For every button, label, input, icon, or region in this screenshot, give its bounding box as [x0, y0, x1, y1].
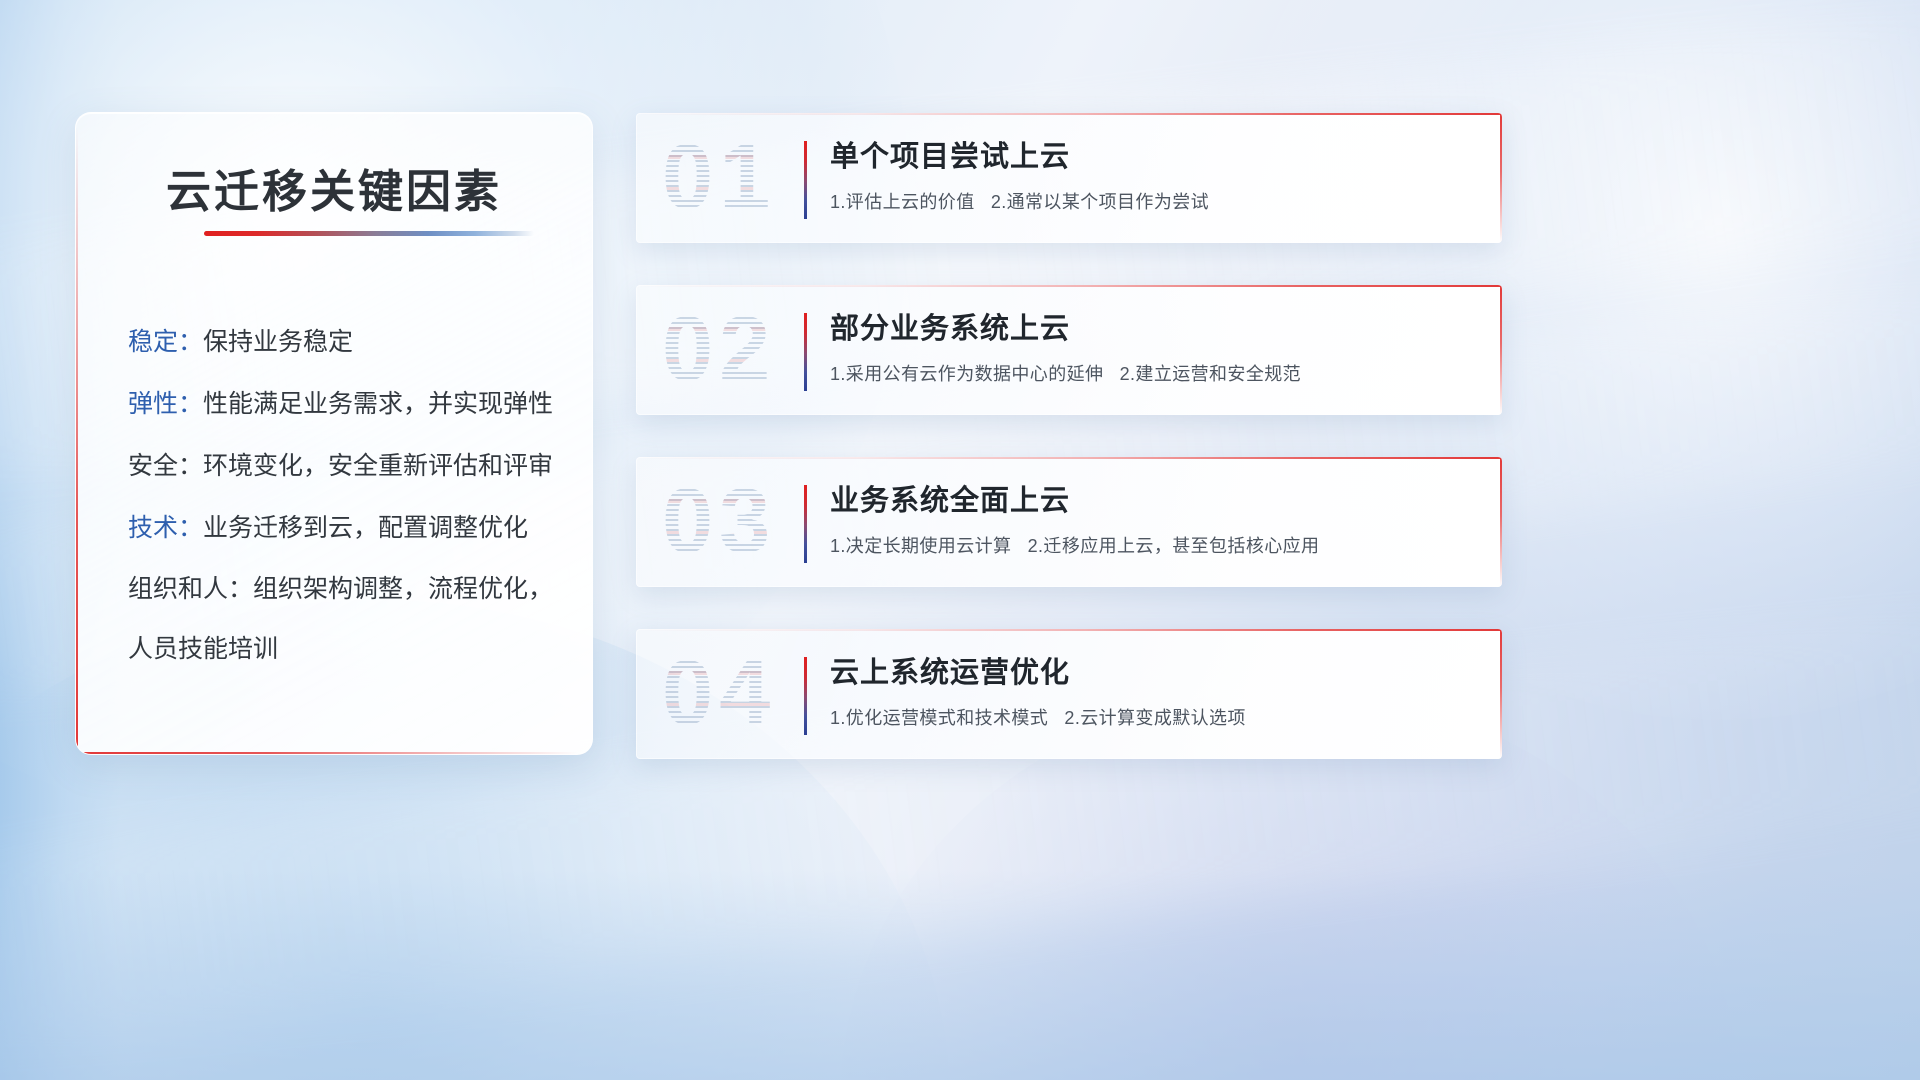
card-top-accent — [636, 285, 1502, 287]
card-title: 部分业务系统上云 — [830, 307, 1476, 351]
card-title: 业务系统全面上云 — [830, 479, 1476, 523]
list-item-value: 性能满足业务需求，并实现弹性 — [203, 390, 553, 418]
list-item-key: 安全： — [128, 452, 203, 480]
list-item-value: 保持业务稳定 — [203, 328, 353, 356]
card-top-accent — [636, 629, 1502, 631]
list-item-value: 环境变化，安全重新评估和评审 — [203, 452, 553, 480]
migration-stage-cards: 01 01 单个项目尝试上云 1.评估上云的价值 2.通常以某个项目作为尝试 0… — [636, 113, 1502, 801]
stage-card[interactable]: 04 04 云上系统运营优化 1.优化运营模式和技术模式 2.云计算变成默认选项 — [636, 629, 1502, 759]
card-number-ghost-tint: 04 — [662, 641, 852, 745]
card-right-accent — [1500, 457, 1502, 587]
stage-card[interactable]: 01 01 单个项目尝试上云 1.评估上云的价值 2.通常以某个项目作为尝试 — [636, 113, 1502, 243]
panel-title-underline — [204, 231, 534, 236]
list-item: 稳定：保持业务稳定 — [128, 311, 562, 373]
list-item-key: 技术： — [128, 514, 203, 542]
card-body: 云上系统运营优化 1.优化运营模式和技术模式 2.云计算变成默认选项 — [830, 651, 1476, 731]
card-body: 业务系统全面上云 1.决定长期使用云计算 2.迁移应用上云，甚至包括核心应用 — [830, 479, 1476, 559]
card-right-accent — [1500, 113, 1502, 243]
list-item-key: 弹性： — [128, 390, 203, 418]
list-item-key: 稳定： — [128, 328, 203, 356]
card-right-accent — [1500, 629, 1502, 759]
card-title: 云上系统运营优化 — [830, 651, 1476, 695]
list-item-key: 组织和人： — [128, 575, 253, 603]
card-top-accent — [636, 457, 1502, 459]
slide-stage: 云迁移关键因素 稳定：保持业务稳定 弹性：性能满足业务需求，并实现弹性 安全：环… — [0, 0, 1920, 1080]
card-description: 1.评估上云的价值 2.通常以某个项目作为尝试 — [830, 189, 1476, 215]
list-item: 弹性：性能满足业务需求，并实现弹性 — [128, 373, 562, 435]
panel-title: 云迁移关键因素 — [76, 155, 592, 220]
card-description: 1.采用公有云作为数据中心的延伸 2.建立运营和安全规范 — [830, 361, 1476, 387]
stage-card[interactable]: 03 03 业务系统全面上云 1.决定长期使用云计算 2.迁移应用上云，甚至包括… — [636, 457, 1502, 587]
card-top-accent — [636, 113, 1502, 115]
card-description: 1.决定长期使用云计算 2.迁移应用上云，甚至包括核心应用 — [830, 533, 1476, 559]
card-number-ghost-tint: 03 — [662, 469, 852, 573]
card-body: 单个项目尝试上云 1.评估上云的价值 2.通常以某个项目作为尝试 — [830, 135, 1476, 215]
list-item: 技术：业务迁移到云，配置调整优化 — [128, 497, 562, 559]
card-right-accent — [1500, 285, 1502, 415]
card-divider-bar — [804, 657, 807, 735]
key-factors-list: 稳定：保持业务稳定 弹性：性能满足业务需求，并实现弹性 安全：环境变化，安全重新… — [128, 311, 562, 679]
stage-card[interactable]: 02 02 部分业务系统上云 1.采用公有云作为数据中心的延伸 2.建立运营和安… — [636, 285, 1502, 415]
panel-bottom-accent-edge — [76, 752, 578, 754]
list-item: 安全：环境变化，安全重新评估和评审 — [128, 435, 562, 497]
card-title: 单个项目尝试上云 — [830, 135, 1476, 179]
list-item-value: 业务迁移到云，配置调整优化 — [203, 514, 528, 542]
card-body: 部分业务系统上云 1.采用公有云作为数据中心的延伸 2.建立运营和安全规范 — [830, 307, 1476, 387]
card-divider-bar — [804, 313, 807, 391]
key-factors-panel: 云迁移关键因素 稳定：保持业务稳定 弹性：性能满足业务需求，并实现弹性 安全：环… — [75, 112, 593, 755]
list-item: 组织和人：组织架构调整，流程优化，人员技能培训 — [128, 559, 562, 679]
panel-left-accent-edge — [76, 127, 78, 754]
card-number-ghost-tint: 01 — [662, 125, 852, 229]
card-divider-bar — [804, 485, 807, 563]
card-divider-bar — [804, 141, 807, 219]
card-number-ghost-tint: 02 — [662, 297, 852, 401]
card-description: 1.优化运营模式和技术模式 2.云计算变成默认选项 — [830, 705, 1476, 731]
